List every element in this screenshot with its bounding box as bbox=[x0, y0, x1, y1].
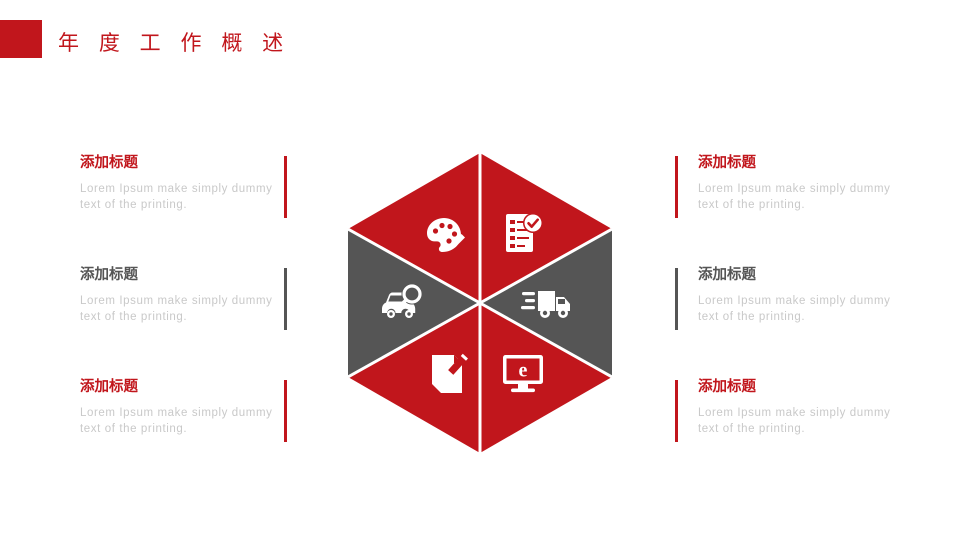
text-block-right-bottom: 添加标题 Lorem Ipsum make simply dummy text … bbox=[698, 380, 913, 438]
block-body: Lorem Ipsum make simply dummy text of th… bbox=[698, 293, 913, 326]
block-title: 添加标题 bbox=[80, 156, 295, 171]
hexagon-diagram: e bbox=[348, 153, 612, 453]
truck-icon bbox=[521, 281, 575, 325]
checklist-icon bbox=[500, 211, 544, 257]
block-body: Lorem Ipsum make simply dummy text of th… bbox=[698, 181, 913, 214]
text-block-left-middle: 添加标题 Lorem Ipsum make simply dummy text … bbox=[80, 268, 295, 326]
block-title: 添加标题 bbox=[698, 380, 913, 395]
car-search-icon bbox=[378, 281, 428, 325]
divider-right-bottom bbox=[675, 380, 678, 442]
block-title: 添加标题 bbox=[698, 268, 913, 283]
block-body: Lorem Ipsum make simply dummy text of th… bbox=[80, 405, 295, 438]
divider-left-middle bbox=[284, 268, 287, 330]
block-body: Lorem Ipsum make simply dummy text of th… bbox=[80, 181, 295, 214]
divider-left-top bbox=[284, 156, 287, 218]
text-block-right-middle: 添加标题 Lorem Ipsum make simply dummy text … bbox=[698, 268, 913, 326]
block-title: 添加标题 bbox=[698, 156, 913, 171]
text-block-left-bottom: 添加标题 Lorem Ipsum make simply dummy text … bbox=[80, 380, 295, 438]
text-block-left-top: 添加标题 Lorem Ipsum make simply dummy text … bbox=[80, 156, 295, 214]
header-accent-bar bbox=[0, 20, 42, 58]
e-monitor-icon: e bbox=[500, 351, 546, 395]
palette-icon bbox=[422, 213, 466, 257]
block-body: Lorem Ipsum make simply dummy text of th… bbox=[80, 293, 295, 326]
block-title: 添加标题 bbox=[80, 380, 295, 395]
block-body: Lorem Ipsum make simply dummy text of th… bbox=[698, 405, 913, 438]
divider-right-middle bbox=[675, 268, 678, 330]
block-title: 添加标题 bbox=[80, 268, 295, 283]
text-block-right-top: 添加标题 Lorem Ipsum make simply dummy text … bbox=[698, 156, 913, 214]
pen-document-icon bbox=[426, 351, 470, 397]
divider-left-bottom bbox=[284, 380, 287, 442]
page-title: 年 度 工 作 概 述 bbox=[58, 27, 290, 57]
divider-right-top bbox=[675, 156, 678, 218]
svg-text:e: e bbox=[519, 360, 528, 382]
